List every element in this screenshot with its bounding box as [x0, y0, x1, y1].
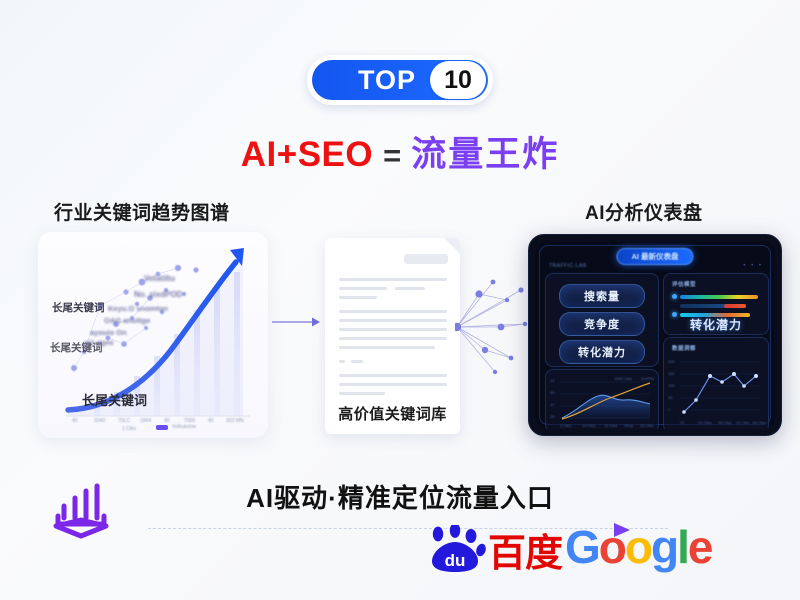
title-ai-seo: AI+SEO	[241, 135, 373, 174]
gauge-dot-1-icon	[672, 294, 677, 299]
area-x-tick-5: 23 Clks	[640, 423, 653, 428]
gauge-panel-title: 评估模型	[672, 280, 696, 288]
area-chart-panel: 24 60 47 26 1 Clks 10 Clks 14 Clks 4Dcp …	[545, 369, 659, 429]
baidu-logo: du 百度	[424, 525, 562, 573]
area-legend-2: SUPRb	[641, 376, 654, 381]
keyword-library-card: 高价值关键词库	[325, 238, 460, 434]
doc-header-block	[404, 254, 448, 264]
doc-line	[339, 392, 385, 395]
line-x-tick-2: 02 Clks	[698, 420, 711, 425]
analytics-bar-icon	[50, 478, 118, 540]
doc-line	[339, 337, 447, 340]
google-letter-e: e	[688, 521, 712, 573]
area-x-tick-1: 1 Clks	[560, 423, 571, 428]
doc-line	[339, 374, 447, 377]
line-x-tick-4: 12 Clks	[736, 420, 749, 425]
top-rank-badge: TOP 10	[307, 55, 493, 105]
bottom-headline: AI驱动·精准定位流量入口	[0, 478, 800, 515]
gauge-overlay-text: 转化潜力	[664, 316, 768, 333]
area-y-tick-3: 47	[550, 402, 554, 407]
top-badge-number-circle: 10	[430, 61, 486, 99]
top-badge-label: TOP	[358, 65, 416, 96]
doc-line	[351, 360, 363, 363]
baidu-du-text: du	[445, 551, 466, 570]
area-x-tick-4: 4Dcp	[624, 423, 633, 428]
google-logo: Google	[565, 524, 711, 570]
area-y-tick-4: 26	[550, 414, 554, 419]
gauge-bar-3	[724, 304, 746, 308]
axis-tick-2: 3340	[94, 418, 105, 424]
dashboard-title-badge: AI 最新仪表盘	[616, 248, 693, 265]
section-label-left: 行业关键词趋势图谱	[54, 198, 230, 225]
area-x-tick-3: 14 Clks	[604, 423, 617, 428]
google-letter-g1: G	[565, 521, 599, 573]
insight-chart-panel: 数据洞察	[663, 337, 769, 429]
metric-pill-conversion[interactable]: 转化潜力	[559, 340, 645, 364]
google-letter-o1: o	[599, 521, 625, 573]
area-y-tick-2: 60	[550, 390, 554, 395]
doc-line	[395, 287, 425, 290]
blurred-text-2: No. sixdPOD	[134, 290, 182, 299]
doc-bullet	[339, 360, 345, 363]
title-traffic: 流量王炸	[411, 135, 559, 174]
blurred-text-5: ayouio On	[90, 328, 127, 337]
doc-card-title: 高价值关键词库	[325, 403, 460, 424]
line-x-tick-3: 06 Clks	[718, 420, 731, 425]
doc-line	[339, 278, 447, 281]
doc-line	[339, 296, 377, 299]
blurred-text-4: OAG anottge	[104, 316, 150, 325]
google-letter-o2: o	[625, 521, 651, 573]
keyword-label-1: 长尾关键词	[52, 300, 105, 315]
baidu-chinese-text: 百度	[488, 535, 562, 573]
line-y-tick-2: 150	[668, 371, 675, 376]
line-y-tick-5: 0	[668, 407, 670, 412]
doc-line	[339, 310, 447, 313]
line-y-tick-1: 200	[668, 359, 675, 364]
page-title: AI+SEO=流量王炸	[0, 126, 800, 177]
section-label-right: AI分析仪表盘	[585, 198, 703, 225]
poster-canvas: TOP 10 AI+SEO=流量王炸 行业关键词趋势图谱 AI分析仪表盘	[0, 0, 800, 600]
axis-tick-4: 1844	[140, 418, 151, 424]
area-legend-1: 1000 Clks	[614, 376, 632, 381]
line-chart-svg	[664, 338, 768, 429]
line-x-tick-5: 18 Clks	[752, 420, 765, 425]
doc-line	[339, 346, 435, 349]
axis-tick-1: 40	[72, 418, 78, 424]
google-letter-l: l	[677, 521, 688, 573]
line-y-tick-4: 50	[668, 395, 672, 400]
flow-arrow-1-icon	[272, 316, 320, 328]
axis-tick-3: 70LC	[118, 418, 130, 424]
ai-dashboard-card: AI 最新仪表盘 TRAFFIC-LAB • • • 搜索量 竞争度 转化潜力	[528, 234, 782, 436]
doc-line	[339, 328, 447, 331]
google-letter-g2: g	[651, 521, 677, 573]
area-x-tick-2: 10 Clks	[582, 423, 595, 428]
gauge-bar-1	[680, 295, 758, 299]
line-y-tick-3: 100	[668, 383, 675, 388]
title-equals: =	[383, 138, 401, 173]
legend-swatch-icon	[156, 425, 168, 430]
chart-legend: Volkukenw	[156, 424, 196, 430]
metric-pill-search-volume[interactable]: 搜索量	[559, 284, 645, 308]
axis-tick-8: 303 MN	[226, 418, 244, 424]
legend-label: Volkukenw	[172, 424, 196, 430]
top-badge-number: 10	[444, 66, 472, 95]
metric-pill-competition[interactable]: 竞争度	[559, 312, 645, 336]
node-network-graphic	[455, 272, 535, 382]
baidu-paw-icon: du	[424, 525, 486, 573]
metrics-panel: 搜索量 竞争度 转化潜力	[545, 273, 659, 367]
axis-caption: 1 Clks	[122, 426, 136, 432]
axis-tick-7: 40	[208, 418, 214, 424]
page-fold-icon	[444, 238, 460, 254]
dashboard-menu-icon[interactable]: • • •	[743, 263, 763, 269]
trend-chart-svg	[38, 232, 268, 438]
dashboard-brand-label: TRAFFIC-LAB	[549, 263, 587, 269]
blurred-text-3: Keyu.O snomton	[108, 304, 168, 313]
blurred-text-6: eVi-dgeo	[84, 340, 113, 347]
area-y-tick-1: 24	[550, 378, 554, 383]
doc-line	[339, 383, 447, 386]
keyword-label-3: 长尾关键词	[82, 390, 147, 409]
doc-line	[339, 287, 387, 290]
potential-gauge-panel: 评估模型 转化潜力	[663, 273, 769, 335]
doc-line	[339, 319, 447, 322]
line-x-tick-1: 01	[680, 420, 684, 425]
blurred-text-1: Volatiltu	[144, 274, 175, 283]
keyword-trend-card: 长尾关键词 长尾关键词 长尾关键词 Volatiltu No. sixdPOD …	[38, 232, 268, 438]
